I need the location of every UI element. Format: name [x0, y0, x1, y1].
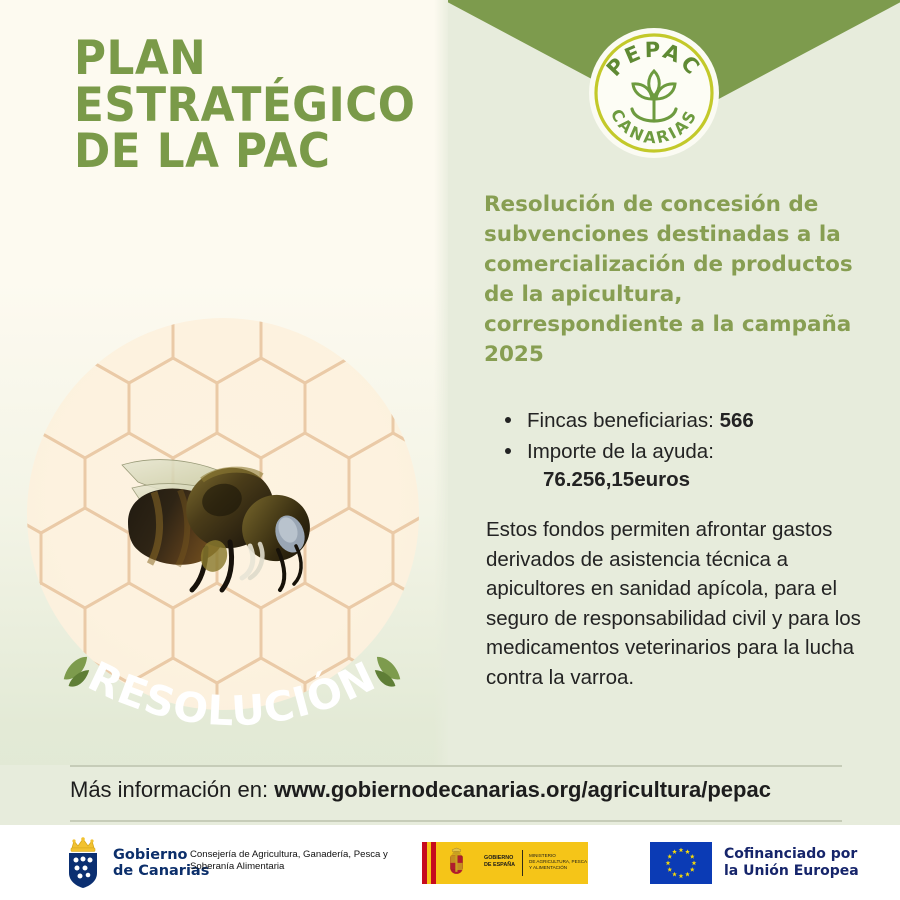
divider-top [70, 765, 842, 767]
footer-logo-band: Gobierno de Canarias Consejería de Agric… [0, 825, 900, 900]
info-url-band: Más información en: www.gobiernodecanari… [0, 765, 900, 825]
title-line-2: ESTRATÉGICO [74, 83, 409, 130]
svg-text:DE ESPAÑA: DE ESPAÑA [484, 861, 515, 868]
title-line-3: DE LA PAC [74, 129, 409, 176]
divider-bottom [70, 820, 842, 822]
consejeria-text: Consejería de Agricultura, Ganadería, Pe… [190, 849, 390, 874]
eu-flag-icon [650, 842, 712, 884]
svg-text:GOBIERNO: GOBIERNO [484, 855, 513, 861]
poster-canvas: PLAN ESTRATÉGICO DE LA PAC [0, 0, 900, 900]
body-paragraph: Estos fondos permiten afrontar gastos de… [486, 515, 866, 692]
title-line-1: PLAN [74, 36, 409, 83]
pepac-canarias-logo: PEPAC CANARIAS [588, 27, 720, 159]
fincas-label: Fincas beneficiarias: [527, 409, 720, 432]
info-url-line: Más información en: www.gobiernodecanari… [70, 777, 860, 803]
svg-text:DE AGRICULTURA, PESCA: DE AGRICULTURA, PESCA [529, 859, 588, 864]
importe-label: Importe de la ayuda: [527, 440, 714, 463]
page-title: PLAN ESTRATÉGICO DE LA PAC [74, 36, 409, 176]
importe-amount: 76.256,15euros [527, 466, 860, 495]
resolucion-ribbon: RESOLUCIÓN [52, 648, 412, 768]
gobierno-de-espana-logo: GOBIERNO DE ESPAÑA MINISTERIO DE AGRICUL… [422, 842, 588, 889]
info-url-link[interactable]: www.gobiernodecanarias.org/agricultura/p… [274, 777, 771, 802]
european-union-logo: Cofinanciado por la Unión Europea [650, 842, 859, 884]
resolucion-label: RESOLUCIÓN [81, 652, 383, 735]
honeybee-icon [110, 430, 325, 605]
list-item-importe: Importe de la ayuda: 76.256,15euros [500, 438, 860, 495]
fincas-value: 566 [720, 409, 754, 432]
canarias-shield-icon [62, 837, 104, 889]
list-item-fincas: Fincas beneficiarias: 566 [500, 407, 860, 436]
svg-text:MINISTERIO: MINISTERIO [529, 853, 556, 858]
eu-line-1: Cofinanciado por [724, 846, 859, 863]
info-url-prefix: Más información en: [70, 777, 274, 802]
eu-line-2: la Unión Europea [724, 863, 859, 880]
headline-text: Resolución de concesión de subvenciones … [484, 190, 856, 371]
key-figures-list: Fincas beneficiarias: 566 Importe de la … [500, 407, 860, 497]
gobierno-de-canarias-logo: Gobierno de Canarias [62, 837, 209, 889]
svg-text:Y ALIMENTACIÓN: Y ALIMENTACIÓN [529, 864, 567, 870]
resolucion-arc: RESOLUCIÓN [52, 648, 412, 768]
